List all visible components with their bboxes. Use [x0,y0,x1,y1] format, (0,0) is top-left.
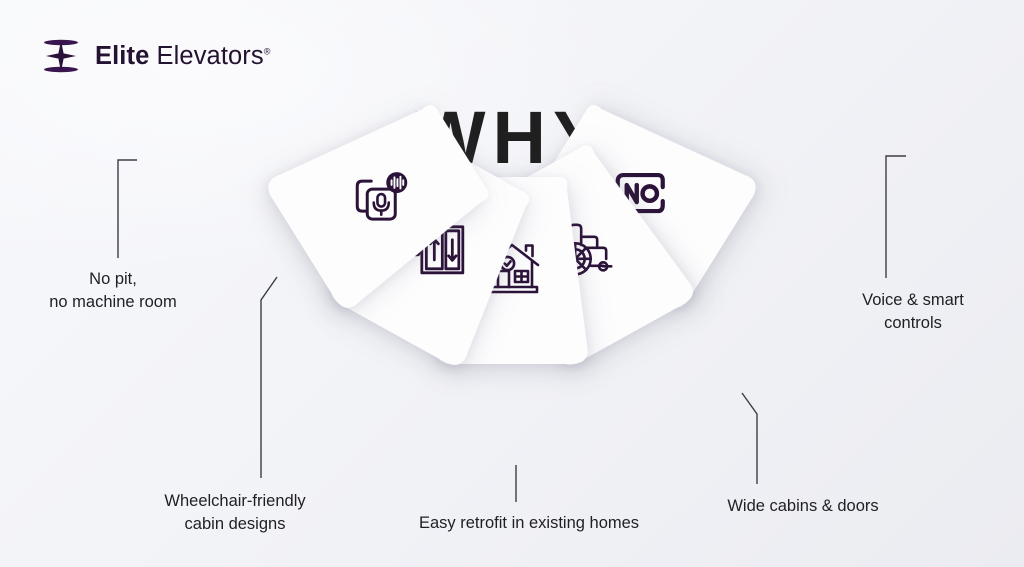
brand-name-bold: Elite [95,42,149,70]
feature-label-voice: Voice & smart controls [820,289,1006,336]
brand-wordmark: Elite Elevators® [95,42,270,71]
connector-wide-cabins [742,393,757,484]
infographic-canvas: Elite Elevators® WHY Are More Indian Hom… [0,0,1024,567]
feature-label-no-pit: No pit, no machine room [18,268,208,315]
connector-no-pit [118,160,137,258]
brand-name-light: Elevators [157,42,264,70]
registered-mark: ® [264,46,271,56]
feature-label-wheelchair: Wheelchair-friendly cabin designs [130,490,340,537]
feature-label-retrofit: Easy retrofit in existing homes [378,512,680,535]
connector-voice [886,156,906,278]
brand-logo: Elite Elevators® [40,35,270,77]
four-point-star-logo-icon [40,35,82,77]
feature-label-wide-cabins: Wide cabins & doors [700,495,906,518]
connector-wheelchair [261,277,277,478]
